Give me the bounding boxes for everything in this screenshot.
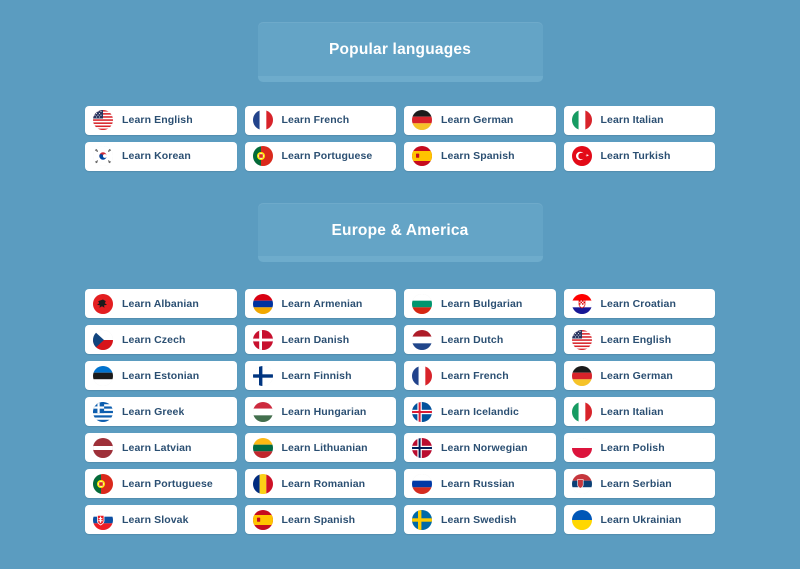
language-button-label: Learn Finnish <box>282 370 352 382</box>
language-button-label: Learn Spanish <box>441 150 515 162</box>
language-button[interactable]: Learn Dutch <box>404 325 556 354</box>
language-button-label: Learn Romanian <box>282 478 366 490</box>
language-button-label: Learn English <box>601 334 672 346</box>
language-button-label: Learn French <box>441 370 509 382</box>
language-button[interactable]: Learn German <box>564 361 716 390</box>
flag-nl-icon <box>412 330 432 350</box>
language-button-label: Learn Swedish <box>441 514 516 526</box>
flag-hr-icon <box>572 294 592 314</box>
language-button[interactable]: Learn German <box>404 106 556 135</box>
language-button[interactable]: Learn Turkish <box>564 142 716 171</box>
language-button-label: Learn Italian <box>601 406 664 418</box>
language-button[interactable]: Learn Latvian <box>85 433 237 462</box>
language-button[interactable]: Learn Danish <box>245 325 397 354</box>
language-button-label: Learn Bulgarian <box>441 298 522 310</box>
flag-us-icon <box>572 330 592 350</box>
language-button-label: Learn Croatian <box>601 298 677 310</box>
language-button-label: Learn Portuguese <box>122 478 213 490</box>
language-button-label: Learn Estonian <box>122 370 199 382</box>
language-button[interactable]: Learn Bulgarian <box>404 289 556 318</box>
language-button[interactable]: Learn Spanish <box>245 505 397 534</box>
language-button[interactable]: Learn Portuguese <box>85 469 237 498</box>
language-button[interactable]: Learn Norwegian <box>404 433 556 462</box>
language-button[interactable]: Learn English <box>564 325 716 354</box>
flag-it-icon <box>572 110 592 130</box>
language-button[interactable]: Learn Spanish <box>404 142 556 171</box>
language-button-label: Learn Ukrainian <box>601 514 682 526</box>
flag-cz-icon <box>93 330 113 350</box>
europe-america-grid: Learn AlbanianLearn ArmenianLearn Bulgar… <box>85 289 715 534</box>
language-button-label: Learn Armenian <box>282 298 363 310</box>
language-button[interactable]: Learn Romanian <box>245 469 397 498</box>
flag-de-icon <box>412 110 432 130</box>
section-header-europe-america: Europe & America <box>258 203 543 263</box>
language-button-label: Learn Latvian <box>122 442 192 454</box>
language-button[interactable]: Learn Korean <box>85 142 237 171</box>
language-button[interactable]: Learn Czech <box>85 325 237 354</box>
language-button[interactable]: Learn Albanian <box>85 289 237 318</box>
language-button[interactable]: Learn Portuguese <box>245 142 397 171</box>
flag-tr-icon <box>572 146 592 166</box>
language-button-label: Learn English <box>122 114 193 126</box>
language-button[interactable]: Learn French <box>404 361 556 390</box>
flag-rs-icon <box>572 474 592 494</box>
language-button[interactable]: Learn Lithuanian <box>245 433 397 462</box>
language-button[interactable]: Learn Hungarian <box>245 397 397 426</box>
language-button[interactable]: Learn Ukrainian <box>564 505 716 534</box>
flag-al-icon <box>93 294 113 314</box>
language-directory-page: Popular languages Learn EnglishLearn Fre… <box>0 22 800 569</box>
flag-bg-icon <box>412 294 432 314</box>
language-button[interactable]: Learn Polish <box>564 433 716 462</box>
flag-no-icon <box>412 438 432 458</box>
language-button-label: Learn Icelandic <box>441 406 519 418</box>
popular-languages-grid: Learn EnglishLearn FrenchLearn GermanLea… <box>85 106 715 171</box>
language-button-label: Learn Albanian <box>122 298 199 310</box>
language-button[interactable]: Learn Finnish <box>245 361 397 390</box>
language-button-label: Learn Greek <box>122 406 184 418</box>
language-button-label: Learn Lithuanian <box>282 442 368 454</box>
language-button[interactable]: Learn Italian <box>564 397 716 426</box>
flag-ua-icon <box>572 510 592 530</box>
language-button[interactable]: Learn Slovak <box>85 505 237 534</box>
flag-se-icon <box>412 510 432 530</box>
language-button[interactable]: Learn English <box>85 106 237 135</box>
flag-it-icon <box>572 402 592 422</box>
flag-dk-icon <box>253 330 273 350</box>
language-button[interactable]: Learn Russian <box>404 469 556 498</box>
flag-ee-icon <box>93 366 113 386</box>
language-button-label: Learn French <box>282 114 350 126</box>
language-button-label: Learn German <box>441 114 513 126</box>
flag-gr-icon <box>93 402 113 422</box>
flag-es-icon <box>253 510 273 530</box>
flag-hu-icon <box>253 402 273 422</box>
language-button-label: Learn Russian <box>441 478 515 490</box>
language-button-label: Learn Italian <box>601 114 664 126</box>
flag-kr-icon <box>93 146 113 166</box>
language-button[interactable]: Learn French <box>245 106 397 135</box>
flag-fi-icon <box>253 366 273 386</box>
language-button-label: Learn Serbian <box>601 478 672 490</box>
language-button-label: Learn Polish <box>601 442 665 454</box>
language-button-label: Learn Czech <box>122 334 186 346</box>
language-button-label: Learn Slovak <box>122 514 189 526</box>
flag-ro-icon <box>253 474 273 494</box>
flag-fr-icon <box>412 366 432 386</box>
language-button-label: Learn Portuguese <box>282 150 373 162</box>
language-button[interactable]: Learn Swedish <box>404 505 556 534</box>
flag-pl-icon <box>572 438 592 458</box>
language-button[interactable]: Learn Serbian <box>564 469 716 498</box>
language-button-label: Learn Spanish <box>282 514 356 526</box>
language-button-label: Learn Danish <box>282 334 350 346</box>
language-button-label: Learn Hungarian <box>282 406 367 418</box>
language-button[interactable]: Learn Italian <box>564 106 716 135</box>
language-button-label: Learn Turkish <box>601 150 671 162</box>
section-header-popular-languages: Popular languages <box>258 22 543 82</box>
flag-ru-icon <box>412 474 432 494</box>
flag-us-icon <box>93 110 113 130</box>
language-button-label: Learn Dutch <box>441 334 503 346</box>
flag-am-icon <box>253 294 273 314</box>
flag-fr-icon <box>253 110 273 130</box>
language-button[interactable]: Learn Icelandic <box>404 397 556 426</box>
language-button-label: Learn Korean <box>122 150 191 162</box>
language-button-label: Learn German <box>601 370 673 382</box>
language-button[interactable]: Learn Estonian <box>85 361 237 390</box>
flag-es-icon <box>412 146 432 166</box>
flag-sk-icon <box>93 510 113 530</box>
flag-is-icon <box>412 402 432 422</box>
flag-pt-icon <box>253 146 273 166</box>
flag-pt-icon <box>93 474 113 494</box>
flag-lt-icon <box>253 438 273 458</box>
language-button[interactable]: Learn Croatian <box>564 289 716 318</box>
language-button-label: Learn Norwegian <box>441 442 528 454</box>
flag-lv-icon <box>93 438 113 458</box>
language-button[interactable]: Learn Armenian <box>245 289 397 318</box>
flag-de-icon <box>572 366 592 386</box>
language-button[interactable]: Learn Greek <box>85 397 237 426</box>
